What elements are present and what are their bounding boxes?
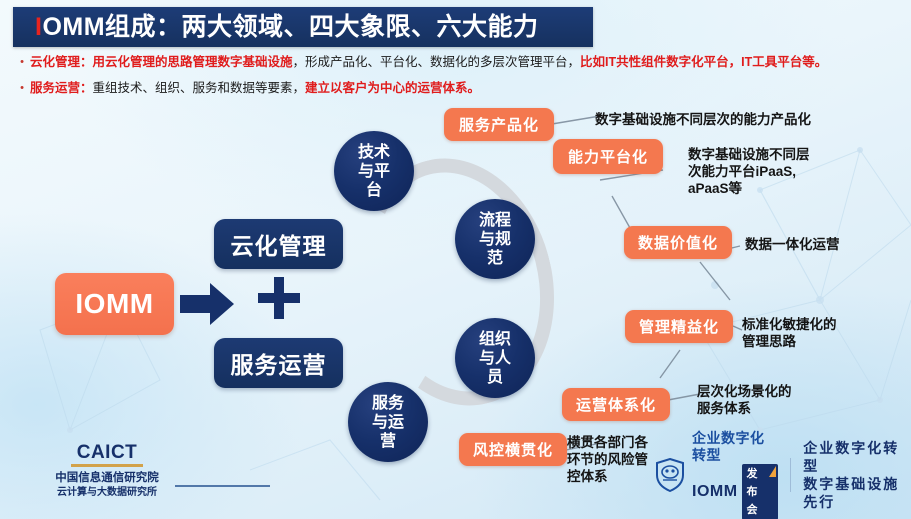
- bullet-1-red-2: 比如IT共性组件数字化平台，IT工具平台等。: [580, 55, 827, 69]
- capability-note-4: 标准化敏捷化的 管理思路: [742, 316, 837, 350]
- capability-label-6: 风控横贯化: [473, 439, 553, 460]
- plus-icon: [258, 277, 300, 319]
- capability-note-6: 横贯各部门各 环节的风险管 控体系: [567, 434, 648, 485]
- caict-institute-name: 中国信息通信研究院: [22, 471, 192, 486]
- capability-label-1: 服务产品化: [459, 114, 539, 135]
- pill-service-label: 服务运营: [231, 346, 327, 380]
- caict-underline-rule: [71, 464, 143, 467]
- footer-right-slogan-line-2: 数字基础设施先行: [803, 475, 911, 511]
- bullet-2-red-2: 建立以客户为中心的运营体系。: [305, 81, 480, 95]
- quadrant-tech-line-1: 技术: [358, 143, 390, 162]
- quadrant-circle-technology-platform: 技术 与平 台: [334, 131, 414, 211]
- footer-right-iomm-row: IOMM 发布会: [692, 464, 778, 519]
- page-title: IOMM组成：两大领域、四大象限、六大能力: [13, 15, 539, 40]
- quadrant-process-line-1: 流程: [479, 211, 511, 230]
- footer-right-divider: [790, 458, 791, 492]
- bullet-dot-icon: •: [14, 80, 30, 96]
- quadrant-org-lines: 组织 与人 员: [479, 330, 511, 387]
- quadrant-circle-organization-people: 组织 与人 员: [455, 318, 535, 398]
- title-rest: OMM组成：两大领域、四大象限、六大能力: [42, 13, 538, 41]
- bullet-1-plain-1: ，形成产品化、平台化、数据化的多层次管理平台，: [293, 55, 581, 69]
- bullet-1-red-1: 用云化管理的思路管理数字基础设施: [93, 55, 293, 69]
- capability-capsule-data-valorization: 数据价值化: [624, 226, 732, 259]
- bullet-item-cloud-management: • 云化管理：用云化管理的思路管理数字基础设施，形成产品化、平台化、数据化的多层…: [14, 54, 827, 70]
- capability-capsule-management-leanization: 管理精益化: [625, 310, 733, 343]
- footer-right-event-chip: 发布会: [742, 464, 779, 519]
- capability-capsule-risk-control: 风控横贯化: [459, 433, 567, 466]
- capability-note-5: 层次化场景化的 服务体系: [697, 383, 792, 417]
- caict-logo-block: CAICT 中国信息通信研究院 云计算与大数据研究所: [22, 443, 192, 500]
- capability-note-1: 数字基础设施不同层次的能力产品化: [595, 111, 811, 128]
- capability-note-3: 数据一体化运营: [745, 236, 840, 253]
- quadrant-tech-line-2: 与平: [358, 162, 390, 181]
- footer-right-logos: 企业数字化转型 IOMM 发布会 企业数字化转型 数字基础设施先行: [655, 452, 911, 498]
- bullet-2-plain-1: 重组技术、组织、服务和数据等要素，: [93, 81, 306, 95]
- quadrant-service-line-2: 与运: [372, 413, 404, 432]
- capability-capsule-capability-platformization: 能力平台化: [553, 139, 663, 174]
- bullet-1-label: 云化管理：: [30, 55, 93, 69]
- capability-capsule-operation-systemization: 运营体系化: [562, 388, 670, 421]
- footer-right-slogan-line-1: 企业数字化转型: [803, 439, 911, 475]
- capability-label-4: 管理精益化: [639, 316, 719, 337]
- caict-department-name: 云计算与大数据研究所: [22, 486, 192, 500]
- iomm-label: IOMM: [75, 288, 153, 320]
- capability-label-3: 数据价值化: [638, 232, 718, 253]
- bullet-text-1: 云化管理：用云化管理的思路管理数字基础设施，形成产品化、平台化、数据化的多层次管…: [30, 54, 827, 70]
- shield-cloud-icon: [655, 458, 685, 492]
- bullet-2-label: 服务运营：: [30, 81, 93, 95]
- capability-capsule-service-productization: 服务产品化: [444, 108, 554, 141]
- quadrant-org-line-2: 与人: [479, 349, 511, 368]
- bullet-item-service-operation: • 服务运营：重组技术、组织、服务和数据等要素，建立以客户为中心的运营体系。: [14, 80, 480, 96]
- quadrant-circle-service-operation: 服务 与运 营: [348, 382, 428, 462]
- quadrant-org-line-1: 组织: [479, 330, 511, 349]
- quadrant-process-line-3: 范: [479, 249, 511, 268]
- arrow-right-icon: [180, 281, 234, 327]
- footer-divider-rule: [175, 485, 270, 487]
- footer-right-secondary-stack: 企业数字化转型 数字基础设施先行: [803, 439, 911, 511]
- footer-right-primary-stack: 企业数字化转型 IOMM 发布会: [692, 430, 778, 519]
- pill-cloud-management: 云化管理: [214, 219, 343, 269]
- bullet-text-2: 服务运营：重组技术、组织、服务和数据等要素，建立以客户为中心的运营体系。: [30, 80, 480, 96]
- quadrant-org-line-3: 员: [479, 368, 511, 387]
- footer-right-iomm-wordmark: IOMM: [692, 483, 738, 501]
- caict-wordmark: CAICT: [22, 443, 192, 463]
- slide-title-bar: IOMM组成：两大领域、四大象限、六大能力: [13, 7, 593, 47]
- capability-note-2: 数字基础设施不同层 次能力平台iPaaS, aPaaS等: [688, 146, 810, 197]
- quadrant-service-line-3: 营: [372, 432, 404, 451]
- footer-right-tagline: 企业数字化转型: [692, 430, 778, 464]
- bullet-dot-icon: •: [14, 54, 30, 70]
- pill-service-operation: 服务运营: [214, 338, 343, 388]
- quadrant-tech-line-3: 台: [358, 181, 390, 200]
- capability-label-5: 运营体系化: [576, 394, 656, 415]
- quadrant-tech-lines: 技术 与平 台: [358, 143, 390, 200]
- quadrant-service-line-1: 服务: [372, 394, 404, 413]
- capability-label-2: 能力平台化: [568, 146, 648, 167]
- pill-cloud-label: 云化管理: [231, 227, 327, 261]
- slide-canvas: IOMM组成：两大领域、四大象限、六大能力 • 云化管理：用云化管理的思路管理数…: [0, 0, 911, 519]
- iomm-source-box: IOMM: [55, 273, 174, 335]
- quadrant-service-lines: 服务 与运 营: [372, 394, 404, 451]
- quadrant-process-line-2: 与规: [479, 230, 511, 249]
- quadrant-process-lines: 流程 与规 范: [479, 211, 511, 268]
- quadrant-circle-process-standard: 流程 与规 范: [455, 199, 535, 279]
